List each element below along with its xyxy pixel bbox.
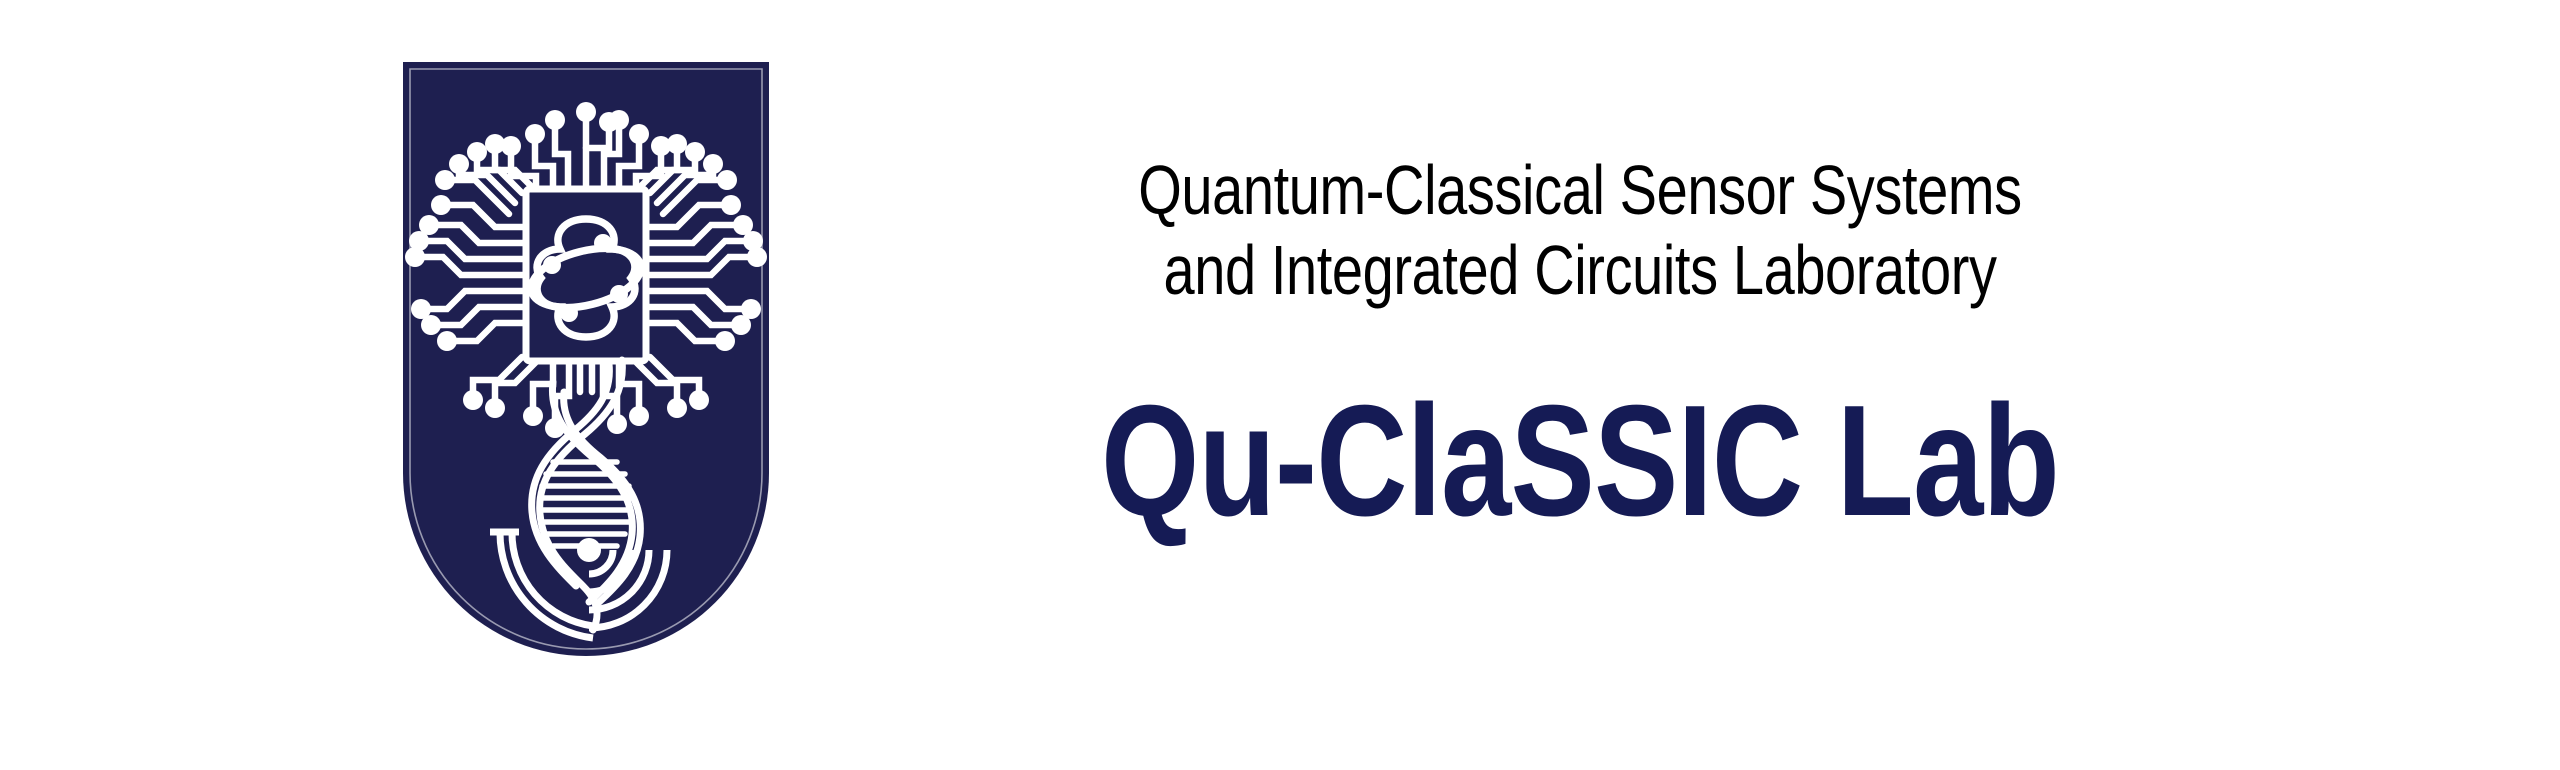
qu-classic-lab-shield-emblem (403, 62, 769, 656)
subtitle-line-1: Quantum-Classical Sensor Systems (980, 150, 2180, 230)
lab-subtitle: Quantum-Classical Sensor Systems and Int… (830, 150, 2330, 310)
lab-title: Qu-ClaSSIC Lab (980, 382, 2180, 540)
subtitle-line-2: and Integrated Circuits Laboratory (980, 230, 2180, 310)
logo-canvas: Quantum-Classical Sensor Systems and Int… (0, 0, 2560, 770)
